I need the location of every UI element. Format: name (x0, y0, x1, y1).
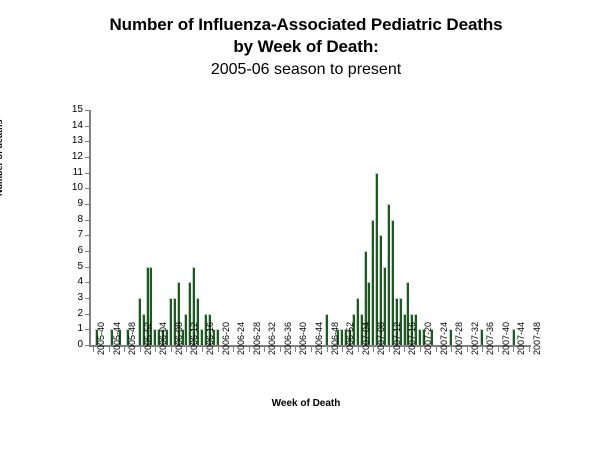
x-tick-label: 2007-04 (362, 322, 371, 355)
y-tick-mark (85, 110, 89, 111)
chart-container: Number of Influenza-Associated Pediatric… (0, 0, 612, 459)
x-tick-mark (140, 347, 141, 352)
x-tick-label: 2006-44 (315, 322, 324, 355)
y-tick-mark (85, 282, 89, 283)
y-tick-mark (85, 173, 89, 174)
y-tick-label: 7 (77, 228, 83, 241)
x-tick-mark (529, 347, 530, 352)
bar (184, 314, 187, 345)
x-tick-mark (295, 347, 296, 352)
x-tick-mark (358, 347, 359, 352)
x-tick-mark (342, 347, 343, 352)
y-tick-mark (85, 345, 89, 346)
x-tick-mark (420, 347, 421, 352)
x-tick-label: 2005-44 (113, 322, 122, 355)
x-tick-label: 2006-52 (346, 322, 355, 355)
y-axis-title: Number of deaths (0, 119, 4, 196)
y-tick-label: 3 (77, 291, 83, 304)
x-tick-mark (109, 347, 110, 352)
x-tick-label: 2006-36 (284, 322, 293, 355)
x-tick-label: 2006-12 (190, 322, 199, 355)
y-tick-label: 11 (73, 166, 83, 179)
x-tick-mark (451, 347, 452, 352)
x-tick-label: 2006-40 (299, 322, 308, 355)
x-axis-ticks (91, 347, 531, 353)
y-tick-mark (85, 235, 89, 236)
x-tick-mark (327, 347, 328, 352)
x-tick-mark (389, 347, 390, 352)
x-tick-mark (280, 347, 281, 352)
bar-series (91, 110, 531, 345)
y-tick-mark (85, 298, 89, 299)
x-tick-label: 2007-16 (408, 322, 417, 355)
y-tick-label: 1 (77, 322, 83, 335)
x-tick-label: 2005-40 (97, 322, 106, 355)
chart-title-line-3: 2005-06 season to present (0, 58, 612, 81)
x-tick-mark (249, 347, 250, 352)
y-tick-label: 12 (72, 150, 83, 163)
bar (216, 329, 219, 345)
bar (325, 314, 328, 345)
y-tick-mark (85, 329, 89, 330)
x-axis-labels: 2005-402005-442005-482005-522006-042006-… (91, 355, 531, 395)
x-tick-label: 2006-24 (237, 322, 246, 355)
bar (449, 329, 452, 345)
x-tick-label: 2006-04 (159, 322, 168, 355)
x-tick-mark (186, 347, 187, 352)
y-tick-label: 14 (72, 119, 83, 132)
bar (403, 314, 406, 345)
x-tick-mark (264, 347, 265, 352)
x-tick-mark (233, 347, 234, 352)
x-tick-mark (467, 347, 468, 352)
bar (169, 298, 172, 345)
x-tick-label: 2007-36 (486, 322, 495, 355)
x-tick-mark (498, 347, 499, 352)
bar (371, 220, 374, 345)
y-tick-label: 8 (77, 213, 83, 226)
bar (153, 329, 156, 345)
chart-title: Number of Influenza-Associated Pediatric… (0, 14, 612, 81)
x-tick-mark (482, 347, 483, 352)
y-tick-label: 10 (72, 181, 83, 194)
x-tick-label: 2005-48 (128, 322, 137, 355)
chart-title-line-1: Number of Influenza-Associated Pediatric… (0, 14, 612, 36)
x-tick-label: 2006-48 (331, 322, 340, 355)
chart-title-line-2: by Week of Death: (0, 36, 612, 58)
x-tick-label: 2006-16 (206, 322, 215, 355)
y-tick-mark (85, 314, 89, 315)
y-tick-mark (85, 220, 89, 221)
x-tick-label: 2007-32 (471, 322, 480, 355)
x-tick-label: 2007-40 (502, 322, 511, 355)
x-tick-mark (202, 347, 203, 352)
y-tick-mark (85, 204, 89, 205)
x-tick-mark (373, 347, 374, 352)
y-tick-label: 2 (77, 307, 83, 320)
y-tick-mark (85, 141, 89, 142)
y-tick-label: 0 (77, 338, 83, 351)
y-tick-mark (85, 267, 89, 268)
x-tick-mark (218, 347, 219, 352)
x-tick-mark (171, 347, 172, 352)
bar (418, 329, 421, 345)
bar (480, 329, 483, 345)
x-tick-label: 2007-24 (440, 322, 449, 355)
x-tick-label: 2006-08 (175, 322, 184, 355)
y-tick-label: 15 (72, 103, 83, 116)
x-tick-label: 2007-12 (393, 322, 402, 355)
bar (200, 329, 203, 345)
x-tick-label: 2006-20 (222, 322, 231, 355)
bar (387, 204, 390, 345)
y-tick-label: 6 (77, 244, 83, 257)
bar (138, 298, 141, 345)
bar (375, 173, 378, 345)
bar (356, 298, 359, 345)
x-tick-label: 2007-44 (517, 322, 526, 355)
x-tick-mark (436, 347, 437, 352)
x-tick-label: 2007-28 (455, 322, 464, 355)
x-axis-title: Week of Death (0, 398, 612, 409)
x-tick-label: 2006-28 (253, 322, 262, 355)
y-tick-label: 5 (77, 260, 83, 273)
y-tick-mark (85, 188, 89, 189)
x-tick-mark (124, 347, 125, 352)
x-tick-label: 2007-20 (424, 322, 433, 355)
y-tick-mark (85, 126, 89, 127)
bar (512, 329, 515, 345)
y-tick-label: 4 (77, 275, 83, 288)
x-tick-mark (311, 347, 312, 352)
x-tick-mark (513, 347, 514, 352)
x-tick-label: 2005-52 (144, 322, 153, 355)
y-tick-label: 9 (77, 197, 83, 210)
x-tick-label: 2007-08 (377, 322, 386, 355)
y-tick-label: 13 (72, 134, 83, 147)
y-tick-mark (85, 251, 89, 252)
x-tick-mark (155, 347, 156, 352)
y-tick-mark (85, 157, 89, 158)
x-tick-label: 2006-32 (268, 322, 277, 355)
bar (340, 329, 343, 345)
x-tick-mark (404, 347, 405, 352)
x-tick-label: 2007-48 (533, 322, 542, 355)
x-tick-mark (93, 347, 94, 352)
